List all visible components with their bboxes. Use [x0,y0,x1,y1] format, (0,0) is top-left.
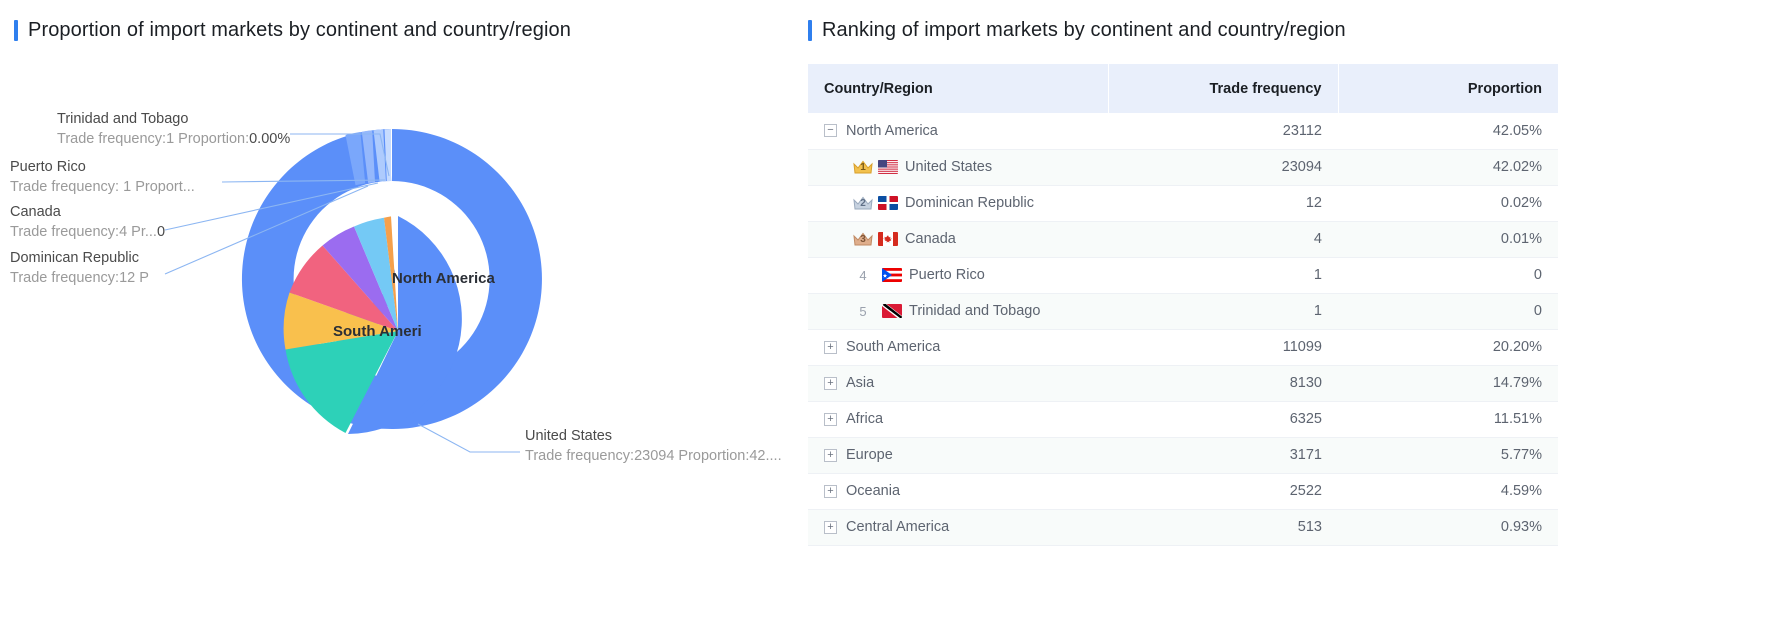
country-name: Dominican Republic [905,195,1034,211]
table-row[interactable]: −North America2311242.05% [808,113,1558,149]
trade-frequency-cell: 23094 [1108,149,1338,185]
rank-number: 4 [852,268,874,283]
flag-icon-us [878,160,898,174]
callout-name: Canada [10,202,165,222]
region-name: Africa [846,411,883,427]
table-row[interactable]: 2 Dominican Republic120.02% [808,185,1558,221]
right-panel-title: Ranking of import markets by continent a… [808,19,1346,42]
proportion-cell: 14.79% [1338,365,1558,401]
region-name: South America [846,339,940,355]
proportion-cell: 4.59% [1338,473,1558,509]
proportion-cell: 0.01% [1338,221,1558,257]
left-panel-title: Proportion of import markets by continen… [14,19,571,42]
donut-chart: Trinidad and Tobago Trade frequency:1 Pr… [0,52,800,612]
table-row[interactable]: 5Trinidad and Tobago10 [808,293,1558,329]
table-header-row: Country/Region Trade frequency Proportio… [808,64,1558,113]
trade-frequency-cell: 513 [1108,509,1338,545]
column-header-proportion[interactable]: Proportion [1338,64,1558,113]
callout-puerto-rico: Puerto Rico Trade frequency: 1 Proport..… [10,157,195,197]
proportion-cell: 42.02% [1338,149,1558,185]
expand-icon[interactable]: + [824,485,837,498]
region-name: Oceania [846,483,900,499]
collapse-icon[interactable]: − [824,124,837,137]
country-name: Trinidad and Tobago [909,303,1040,319]
trade-frequency-cell: 6325 [1108,401,1338,437]
title-accent-bar [808,20,812,41]
table-row[interactable]: +Central America5130.93% [808,509,1558,545]
country-row-label: 1 United States [808,149,1108,185]
group-row-label: +Africa [808,401,1108,437]
right-panel-title-text: Ranking of import markets by continent a… [822,19,1346,42]
group-row-label: +Central America [808,509,1108,545]
trade-frequency-cell: 3171 [1108,437,1338,473]
country-row-label: 5Trinidad and Tobago [808,293,1108,329]
callout-detail: Trade frequency: 1 Proport... [10,177,195,197]
table-row[interactable]: 3 Canada40.01% [808,221,1558,257]
callout-detail: Trade frequency:4 Pr...0 [10,222,165,242]
table-row[interactable]: 1 United States2309442.02% [808,149,1558,185]
table-row[interactable]: +Europe31715.77% [808,437,1558,473]
trade-frequency-cell: 12 [1108,185,1338,221]
group-row-label: +Oceania [808,473,1108,509]
country-name: Puerto Rico [909,267,985,283]
column-header-country-region[interactable]: Country/Region [808,64,1108,113]
expand-icon[interactable]: + [824,413,837,426]
trade-frequency-cell: 2522 [1108,473,1338,509]
leader-line-united-states [418,424,520,452]
column-header-trade-frequency[interactable]: Trade frequency [1108,64,1338,113]
expand-icon[interactable]: + [824,521,837,534]
table-row[interactable]: +Africa632511.51% [808,401,1558,437]
region-name: North America [846,123,938,139]
expand-icon[interactable]: + [824,449,837,462]
expand-icon[interactable]: + [824,341,837,354]
dashboard-root: Proportion of import markets by continen… [0,0,1766,624]
table-body: −North America2311242.05%1 United States… [808,113,1558,545]
region-name: Central America [846,519,949,535]
flag-icon-tt [882,304,902,318]
table-row[interactable]: 4Puerto Rico10 [808,257,1558,293]
title-accent-bar [14,20,18,41]
proportion-chart-panel: Proportion of import markets by continen… [0,0,800,624]
callout-detail: Trade frequency:1 Proportion:0.00% [57,129,290,149]
country-name: United States [905,159,992,175]
ranking-table: Country/Region Trade frequency Proportio… [808,64,1558,546]
country-name: Canada [905,231,956,247]
proportion-cell: 42.05% [1338,113,1558,149]
rank-number: 5 [852,304,874,319]
proportion-cell: 20.20% [1338,329,1558,365]
group-row-label: −North America [808,113,1108,149]
callout-united-states: United States Trade frequency:23094 Prop… [525,426,782,466]
trade-frequency-cell: 8130 [1108,365,1338,401]
expand-icon[interactable]: + [824,377,837,390]
proportion-cell: 11.51% [1338,401,1558,437]
ranking-table-panel: Ranking of import markets by continent a… [800,0,1766,624]
callout-canada: Canada Trade frequency:4 Pr...0 [10,202,165,242]
trade-frequency-cell: 4 [1108,221,1338,257]
table-row[interactable]: +Oceania25224.59% [808,473,1558,509]
proportion-cell: 0.93% [1338,509,1558,545]
country-row-label: 2 Dominican Republic [808,185,1108,221]
table-row[interactable]: +Asia813014.79% [808,365,1558,401]
trade-frequency-cell: 1 [1108,257,1338,293]
rank-medal-icon: 1 [852,159,874,175]
group-row-label: +South America [808,329,1108,365]
left-panel-title-text: Proportion of import markets by continen… [28,19,571,42]
callout-name: Puerto Rico [10,157,195,177]
callout-detail: Trade frequency:23094 Proportion:42.... [525,446,782,466]
callout-dominican-republic: Dominican Republic Trade frequency:12 P [10,248,149,288]
slice-label-south-america: South Ameri [333,323,422,340]
proportion-cell: 0 [1338,257,1558,293]
rank-medal-icon: 2 [852,195,874,211]
flag-icon-do [878,196,898,210]
proportion-cell: 0 [1338,293,1558,329]
rank-medal-icon: 3 [852,231,874,247]
country-row-label: 3 Canada [808,221,1108,257]
flag-icon-ca [878,232,898,246]
region-name: Asia [846,375,874,391]
table-row[interactable]: +South America1109920.20% [808,329,1558,365]
proportion-cell: 5.77% [1338,437,1558,473]
trade-frequency-cell: 23112 [1108,113,1338,149]
callout-name: Dominican Republic [10,248,149,268]
group-row-label: +Europe [808,437,1108,473]
flag-icon-pr [882,268,902,282]
trade-frequency-cell: 11099 [1108,329,1338,365]
callout-name: Trinidad and Tobago [57,109,290,129]
proportion-cell: 0.02% [1338,185,1558,221]
table-head: Country/Region Trade frequency Proportio… [808,64,1558,113]
region-name: Europe [846,447,893,463]
callout-name: United States [525,426,782,446]
trade-frequency-cell: 1 [1108,293,1338,329]
slice-label-north-america: North America [392,270,495,287]
callout-detail: Trade frequency:12 P [10,268,149,288]
country-row-label: 4Puerto Rico [808,257,1108,293]
callout-trinidad-and-tobago: Trinidad and Tobago Trade frequency:1 Pr… [57,109,290,149]
ranking-table-wrap: Country/Region Trade frequency Proportio… [808,64,1558,546]
group-row-label: +Asia [808,365,1108,401]
